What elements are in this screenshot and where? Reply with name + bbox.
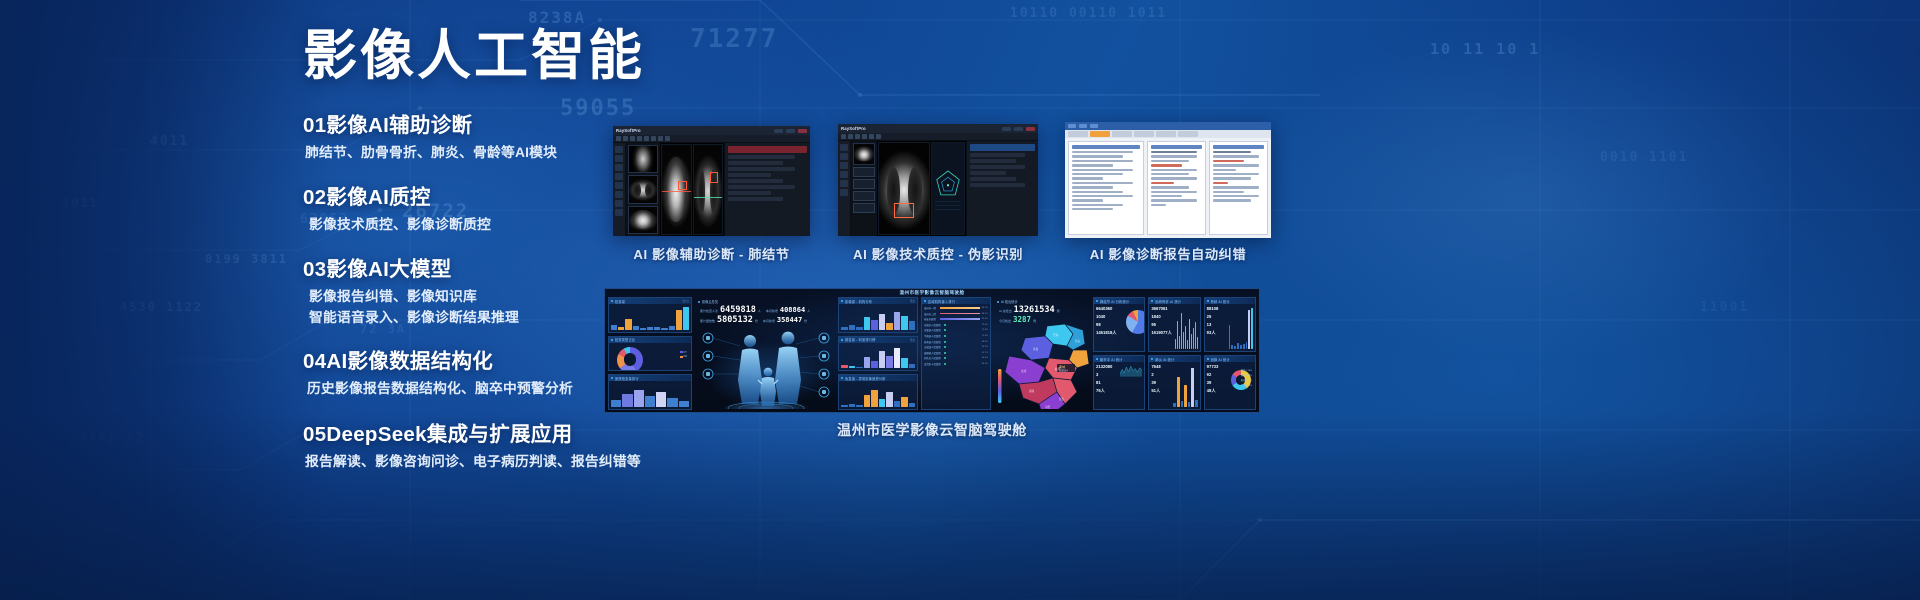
worklist-row[interactable] bbox=[1072, 151, 1133, 153]
metric-value: 95 bbox=[1151, 322, 1173, 327]
series-thumbnail[interactable] bbox=[628, 206, 658, 234]
card-header: 报告量 - 科室排行榜月度 bbox=[839, 337, 917, 343]
toolbar-icon[interactable] bbox=[637, 136, 642, 141]
metric-value: 13 bbox=[1207, 322, 1227, 327]
series-info-row[interactable] bbox=[853, 167, 875, 177]
finding-row[interactable] bbox=[728, 167, 795, 171]
donut-legend: CT DR bbox=[680, 351, 687, 359]
feature-number-02: 02 bbox=[303, 186, 326, 209]
card-ranking-list[interactable]: 区域机构接入排行 温州市一院 94.2% 温州市二院 88.1% bbox=[921, 297, 991, 410]
card-header: 肋骨骨折 AI 统计 bbox=[1149, 298, 1199, 304]
card-body: 3667061 1840 95 1619077人 bbox=[1151, 306, 1197, 349]
window-close-icon[interactable] bbox=[798, 129, 807, 133]
status-dot-icon bbox=[1151, 300, 1153, 302]
toolbar-icon[interactable] bbox=[862, 134, 867, 139]
report-tab[interactable] bbox=[1178, 131, 1198, 137]
ai-findings-panel[interactable] bbox=[724, 143, 810, 236]
rail-icon[interactable] bbox=[840, 171, 848, 178]
svg-text:泰顺: 泰顺 bbox=[1029, 389, 1035, 393]
status-dot-icon bbox=[841, 377, 843, 379]
bar-chart bbox=[841, 306, 915, 330]
app-titlebar: RaySoftPro bbox=[838, 124, 1038, 133]
rail-icon[interactable] bbox=[615, 164, 623, 171]
worklist-row[interactable] bbox=[1072, 199, 1103, 201]
ranking-row[interactable]: 文成县人民医院 65.2% bbox=[924, 345, 988, 349]
dashboard-column-bars: 影像量 - 机构分布月度 报告量 - 科室排行榜月度 bbox=[838, 297, 918, 410]
worklist-column[interactable] bbox=[1068, 141, 1144, 235]
rail-icon[interactable] bbox=[615, 191, 623, 198]
card-body bbox=[841, 345, 915, 369]
svg-text:平阳: 平阳 bbox=[1045, 405, 1051, 409]
worklist-row[interactable] bbox=[1072, 155, 1123, 157]
correction-line bbox=[1213, 151, 1251, 153]
correction-line bbox=[1213, 173, 1259, 175]
toolbar-icon[interactable] bbox=[651, 136, 656, 141]
screenshot-ai-diagnosis[interactable]: RaySoftPro bbox=[613, 126, 810, 236]
toolbar-icon[interactable] bbox=[841, 134, 846, 139]
card-metric-bar-2[interactable]: 肺炎 AI 统计 7648 2 39 51人 bbox=[1148, 355, 1200, 410]
correction-line bbox=[1213, 164, 1259, 166]
ai-kpi-value-1: 13261534 bbox=[1014, 305, 1055, 315]
app-toolbar[interactable] bbox=[838, 133, 1038, 141]
status-dot-icon bbox=[997, 301, 999, 303]
image-viewer[interactable] bbox=[877, 141, 966, 236]
toolbar-icon[interactable] bbox=[658, 136, 663, 141]
pentagon-overlay-icon bbox=[932, 143, 964, 234]
screenshot-imaging-cloud-dashboard[interactable]: 温州市医学影像云智脑驾驶舱 检查量近7日 bbox=[604, 288, 1260, 413]
toolbar-icon[interactable] bbox=[644, 136, 649, 141]
series-thumbnail-list[interactable] bbox=[851, 141, 877, 236]
ranking-rows: 温州市一院 94.2% 温州市二院 88.1% 瑞安市医院 80. bbox=[924, 306, 988, 366]
app-titlebar: RaySoftPro bbox=[613, 126, 810, 135]
report-line bbox=[1151, 155, 1197, 157]
rail-icon[interactable] bbox=[840, 162, 848, 169]
kpi-unit-2: 人 bbox=[807, 309, 810, 313]
report-tab[interactable] bbox=[1156, 131, 1176, 137]
caption-ai-quality-control: AI 影像技术质控 - 伪影识别 bbox=[838, 244, 1038, 263]
metric-value: 2132080 bbox=[1096, 364, 1118, 369]
ai-kpi-row-1: AI 总检出 13261534 例 bbox=[999, 305, 1060, 315]
ranking-row[interactable]: 平阳县人民医院 70.0% bbox=[924, 334, 988, 338]
metric-value: 7648 bbox=[1151, 364, 1171, 369]
worklist-row[interactable] bbox=[1072, 160, 1133, 162]
kpi-value-4: 358447 bbox=[777, 316, 802, 324]
app-toolbar[interactable] bbox=[613, 135, 810, 143]
bar-chart bbox=[841, 345, 915, 369]
status-dot-icon bbox=[611, 339, 613, 341]
card-region-map[interactable]: AI 检出统计 AI 总检出 13261534 例 今日检出 3287 例 bbox=[994, 297, 1090, 410]
card-body bbox=[611, 306, 689, 330]
finding-row[interactable] bbox=[728, 185, 795, 189]
finding-row[interactable] bbox=[728, 191, 771, 195]
toolbar-icon[interactable] bbox=[876, 134, 881, 139]
metric-value: 48人 bbox=[1207, 388, 1227, 394]
correction-line bbox=[1213, 191, 1244, 193]
panel-header bbox=[970, 144, 1035, 151]
report-line-error bbox=[1151, 164, 1182, 166]
left-tool-rail[interactable] bbox=[613, 143, 626, 236]
window-maximize-icon[interactable] bbox=[1014, 127, 1023, 131]
background-left-vignette bbox=[0, 0, 330, 600]
correction-line bbox=[1213, 195, 1259, 197]
panel-header bbox=[728, 146, 807, 153]
metric-value: 98 bbox=[1096, 322, 1118, 327]
correction-line bbox=[1213, 169, 1236, 171]
kpi-label-1: 累计检查人次 bbox=[700, 309, 718, 313]
qc-row[interactable] bbox=[970, 177, 1016, 181]
kpi-value-2: 408864 bbox=[780, 306, 805, 314]
report-line bbox=[1151, 169, 1197, 171]
pie-chart bbox=[1126, 310, 1145, 334]
ranking-row[interactable]: 温州市二院 88.1% bbox=[924, 312, 988, 316]
metric-value: 92 bbox=[1207, 372, 1227, 377]
titlebar-icon[interactable] bbox=[1068, 124, 1076, 128]
finding-row[interactable] bbox=[728, 155, 795, 159]
metric-values: 6640360 1040 98 1451818人 bbox=[1096, 306, 1118, 336]
worklist-row[interactable] bbox=[1072, 177, 1103, 179]
card-bar-small-1[interactable]: 检查量近7日 bbox=[608, 297, 692, 333]
rail-icon[interactable] bbox=[615, 182, 623, 189]
feature-number-05: 05 bbox=[303, 423, 326, 446]
worklist-row[interactable] bbox=[1072, 173, 1123, 175]
card-body: 7648 2 39 51人 bbox=[1151, 364, 1197, 407]
card-body bbox=[841, 306, 915, 330]
correction-line-flag bbox=[1213, 160, 1244, 162]
series-info-row[interactable] bbox=[853, 191, 875, 201]
viewport-axial-artifact[interactable] bbox=[878, 142, 930, 235]
worklist-row[interactable] bbox=[1072, 195, 1133, 197]
qc-row[interactable] bbox=[970, 153, 1025, 157]
kpi-label-2: 本月新增 bbox=[766, 309, 778, 313]
svg-text:乐清: 乐清 bbox=[1053, 333, 1059, 337]
dashboard-grid: 检查量近7日 检查类型占比 bbox=[608, 297, 1256, 410]
kpi-value-1: 6459818 bbox=[720, 305, 756, 315]
report-header bbox=[1151, 145, 1202, 149]
dashboard-column-right: 肺结节 AI 分析统计 6640360 1040 98 1451818人 bbox=[1093, 297, 1256, 410]
card-bar-stack-3[interactable]: 危急值 - 异常影像趋势分析 bbox=[838, 374, 918, 410]
rail-icon[interactable] bbox=[615, 200, 623, 207]
donut-chart bbox=[617, 347, 643, 372]
status-dot-icon bbox=[1096, 358, 1098, 360]
correction-line-flag bbox=[1213, 182, 1228, 184]
correction-line bbox=[1213, 186, 1259, 188]
ai-kpi-label-1: AI 总检出 bbox=[999, 309, 1012, 313]
card-header: 骨龄 AI 统计 bbox=[1205, 298, 1255, 304]
ranking-row[interactable]: 永嘉县人民医院 72.3% bbox=[924, 328, 988, 332]
feature-label-03: 影像AI大模型 bbox=[326, 258, 451, 281]
rail-icon[interactable] bbox=[840, 180, 848, 187]
ranking-row[interactable]: 龙湾区人民医院 54.9% bbox=[924, 362, 988, 366]
toolbar-icon[interactable] bbox=[665, 136, 670, 141]
bar-chart bbox=[1173, 364, 1197, 407]
status-dot-icon bbox=[841, 339, 843, 341]
toolbar-icon[interactable] bbox=[623, 136, 628, 141]
kpi-unit-4: 份 bbox=[804, 319, 807, 323]
report-line-error bbox=[1151, 182, 1174, 184]
dashboard-column-center: 影像云总览 累计检查人次 6459818 人 本月新增 408864 人 累计报… bbox=[695, 297, 835, 410]
rail-icon[interactable] bbox=[615, 146, 623, 153]
status-dot-icon bbox=[611, 377, 613, 379]
donut-legend: 钙化 1.74% 狭窄 2.63% 斑块 4.72% 正常 90.1% bbox=[1241, 368, 1252, 387]
metric-value: 1619077人 bbox=[1151, 330, 1173, 336]
bar-chart bbox=[1175, 306, 1197, 349]
status-dot-icon bbox=[611, 300, 613, 302]
card-header: 肺炎 AI 统计 bbox=[1149, 356, 1199, 362]
report-line bbox=[1151, 151, 1197, 153]
viewport-axial[interactable] bbox=[661, 144, 692, 235]
feature-label-02: 影像AI质控 bbox=[326, 186, 430, 209]
metric-value: 93人 bbox=[1207, 330, 1227, 336]
series-info-row[interactable] bbox=[853, 203, 875, 213]
card-header: 区域机构接入排行 bbox=[922, 298, 990, 304]
report-application-window bbox=[1065, 122, 1271, 238]
worklist-row[interactable] bbox=[1072, 182, 1133, 184]
card-header: 检查量近7日 bbox=[609, 298, 691, 304]
metric-value: 1840 bbox=[1151, 314, 1173, 319]
report-tab-strip[interactable] bbox=[1065, 130, 1271, 138]
status-dot-icon bbox=[841, 300, 843, 302]
card-donut-1[interactable]: 检查类型占比 CT DR bbox=[608, 336, 692, 372]
status-dot-icon bbox=[1207, 300, 1209, 302]
page-title: 影像人工智能 bbox=[303, 26, 703, 86]
series-thumbnail[interactable] bbox=[628, 145, 658, 173]
background-glow-right bbox=[1245, 24, 1805, 364]
card-metric-pie[interactable]: 肺结节 AI 分析统计 6640360 1040 98 1451818人 bbox=[1093, 297, 1145, 352]
pacs-application-window: RaySoftPro bbox=[613, 126, 810, 236]
metric-value: 3667061 bbox=[1151, 306, 1173, 311]
bar-chart bbox=[841, 383, 915, 407]
titlebar-icon[interactable] bbox=[1079, 124, 1087, 128]
metric-value: 51人 bbox=[1151, 388, 1171, 394]
ranking-row[interactable]: 泰顺县人民医院 61.7% bbox=[924, 351, 988, 355]
holographic-family-figure bbox=[696, 324, 834, 409]
card-metric-donut[interactable]: 冠脉 AI 统计 97733 92 39 48人 钙化 1.74% 狭窄 2.6… bbox=[1204, 355, 1256, 410]
feature-label-01: 影像AI辅助诊断 bbox=[326, 114, 472, 137]
card-kpi-human[interactable]: 影像云总览 累计检查人次 6459818 人 本月新增 408864 人 累计报… bbox=[695, 297, 835, 410]
toolbar-icon[interactable] bbox=[630, 136, 635, 141]
feature-desc-05: 报告解读、影像咨询问诊、电子病历判读、报告纠错等 bbox=[305, 452, 703, 472]
report-tab[interactable] bbox=[1134, 131, 1154, 137]
worklist-header bbox=[1072, 145, 1140, 149]
svg-text:洞头: 洞头 bbox=[1075, 339, 1081, 343]
report-line bbox=[1151, 173, 1189, 175]
qc-row[interactable] bbox=[970, 159, 1016, 163]
wenzhou-region-map[interactable]: 鹿城 208514 乐清洞头 永嘉瓯海 文成泰顺 瑞安平阳 bbox=[995, 322, 1089, 409]
ranking-row[interactable]: 洞头区人民医院 58.4% bbox=[924, 356, 988, 360]
series-thumbnail[interactable] bbox=[628, 175, 658, 203]
svg-text:瑞安: 瑞安 bbox=[1059, 397, 1065, 401]
report-line bbox=[1151, 204, 1166, 206]
bar-chart bbox=[1229, 306, 1253, 349]
metric-value: 1451818人 bbox=[1096, 330, 1118, 336]
qc-row[interactable] bbox=[970, 183, 1025, 187]
window-minimize-icon[interactable] bbox=[1002, 127, 1011, 131]
worklist-row[interactable] bbox=[1072, 169, 1133, 171]
card-body: CT DR bbox=[611, 345, 689, 369]
titlebar-icon[interactable] bbox=[1090, 124, 1098, 128]
finding-row[interactable] bbox=[728, 197, 783, 201]
dashboard-column-left: 检查量近7日 检查类型占比 bbox=[608, 297, 692, 410]
status-dot-icon bbox=[1096, 300, 1098, 302]
ai-kpi-unit-1: 例 bbox=[1057, 309, 1060, 313]
report-line bbox=[1151, 195, 1182, 197]
report-line bbox=[1151, 186, 1189, 188]
card-metric-area[interactable]: 脑卒中 AI 统计 2132080 3 81 76人 bbox=[1093, 355, 1145, 410]
toolbar-icon[interactable] bbox=[869, 134, 874, 139]
metric-values: 97733 92 39 48人 bbox=[1207, 364, 1227, 394]
right-row-1: 肺结节 AI 分析统计 6640360 1040 98 1451818人 bbox=[1093, 297, 1256, 352]
dashboard-column-ranking: 区域机构接入排行 温州市一院 94.2% 温州市二院 88.1% bbox=[921, 297, 991, 410]
status-dot-icon bbox=[698, 301, 700, 303]
svg-text:文成: 文成 bbox=[1021, 369, 1027, 373]
rail-icon[interactable] bbox=[615, 155, 623, 162]
metric-value: 39 bbox=[1151, 380, 1171, 385]
kpi-row-1: 累计检查人次 6459818 人 本月新增 408864 人 bbox=[700, 305, 810, 315]
window-close-icon[interactable] bbox=[1026, 127, 1035, 131]
caption-dashboard: 温州市医学影像云智脑驾驶舱 bbox=[604, 420, 1260, 440]
ai-kpi-header: AI 检出统计 bbox=[997, 299, 1018, 304]
metric-value: 2 bbox=[1151, 372, 1171, 377]
card-header: 危急值 - 异常影像趋势分析 bbox=[839, 375, 917, 381]
right-row-2: 脑卒中 AI 统计 2132080 3 81 76人 bbox=[1093, 355, 1256, 410]
status-dot-icon bbox=[924, 300, 926, 302]
qc-row[interactable] bbox=[970, 171, 1006, 175]
card-bar-stack-2[interactable]: 报告量 - 科室排行榜月度 bbox=[838, 336, 918, 372]
screenshot-ai-quality-control[interactable]: RaySoftPro bbox=[838, 124, 1038, 236]
feature-number-04: 04 bbox=[303, 350, 326, 373]
caption-ai-diagnosis: AI 影像辅助诊断 - 肺结节 bbox=[613, 244, 810, 263]
card-body: 2132080 3 81 76人 bbox=[1096, 364, 1142, 407]
card-metric-line[interactable]: 肋骨骨折 AI 统计 3667061 1840 95 1619077人 bbox=[1148, 297, 1200, 352]
card-body bbox=[611, 383, 689, 407]
status-dot-icon bbox=[1151, 358, 1153, 360]
card-bar-stack-1[interactable]: 影像量 - 机构分布月度 bbox=[838, 297, 918, 333]
rail-icon[interactable] bbox=[840, 153, 848, 160]
card-bar-small-2[interactable]: 医院检查量排行 bbox=[608, 374, 692, 410]
card-header: 影像量 - 机构分布月度 bbox=[839, 298, 917, 304]
rail-icon[interactable] bbox=[615, 173, 623, 180]
report-line bbox=[1151, 177, 1197, 179]
card-header: 检查类型占比 bbox=[609, 337, 691, 343]
feature-number-01: 01 bbox=[303, 114, 326, 137]
card-header: 冠脉 AI 统计 bbox=[1205, 356, 1255, 362]
series-info-row[interactable] bbox=[853, 179, 875, 189]
report-line bbox=[1151, 191, 1197, 193]
metric-value: 76人 bbox=[1096, 388, 1118, 394]
window-maximize-icon[interactable] bbox=[786, 129, 795, 133]
correction-suggestion-column[interactable] bbox=[1209, 141, 1268, 235]
metric-values: 2132080 3 81 76人 bbox=[1096, 364, 1118, 394]
rail-icon[interactable] bbox=[615, 209, 623, 216]
svg-text:208514: 208514 bbox=[1059, 369, 1068, 373]
metric-value: 97733 bbox=[1207, 364, 1227, 369]
status-dot-icon bbox=[1207, 358, 1209, 360]
dashboard-title: 温州市医学影像云智脑驾驶舱 bbox=[605, 290, 1259, 296]
qc-row[interactable] bbox=[970, 165, 1025, 169]
worklist-row[interactable] bbox=[1072, 164, 1113, 166]
series-thumbnail-list[interactable] bbox=[626, 143, 660, 236]
report-titlebar bbox=[1065, 122, 1271, 130]
metric-value: 81 bbox=[1096, 380, 1118, 385]
metric-value: 3 bbox=[1096, 372, 1118, 377]
worklist-row[interactable] bbox=[1072, 191, 1123, 193]
dashboard-column-map: AI 检出统计 AI 总检出 13261534 例 今日检出 3287 例 bbox=[994, 297, 1090, 410]
metric-value: 1040 bbox=[1096, 314, 1118, 319]
app-body bbox=[613, 143, 810, 236]
rail-icon[interactable] bbox=[840, 189, 848, 196]
bar-chart bbox=[611, 306, 689, 330]
report-line bbox=[1151, 199, 1197, 201]
ranking-row[interactable]: 乐清市人民医院 76.9% bbox=[924, 323, 988, 327]
toolbar-icon[interactable] bbox=[848, 134, 853, 139]
app-logo-text: RaySoftPro bbox=[616, 128, 641, 133]
qc-result-panel[interactable] bbox=[966, 141, 1038, 236]
report-tab-active[interactable] bbox=[1090, 131, 1110, 137]
card-body: 6640360 1040 98 1451818人 bbox=[1096, 306, 1142, 349]
app-body bbox=[838, 141, 1038, 236]
card-body: 温州市一院 94.2% 温州市二院 88.1% 瑞安市医院 80. bbox=[924, 306, 988, 407]
worklist-row[interactable] bbox=[1072, 186, 1113, 188]
ranking-row[interactable]: 苍南县人民医院 68.5% bbox=[924, 340, 988, 344]
caption-report-autocorrect: AI 影像诊断报告自动纠错 bbox=[1065, 244, 1271, 263]
window-minimize-icon[interactable] bbox=[774, 129, 783, 133]
screenshot-report-autocorrect[interactable] bbox=[1065, 122, 1271, 238]
card-body bbox=[841, 383, 915, 407]
viewport-geometry-analysis[interactable] bbox=[931, 142, 965, 235]
metric-values: 88108 25 13 93人 bbox=[1207, 306, 1227, 336]
metric-value: 39 bbox=[1207, 380, 1227, 385]
report-tab[interactable] bbox=[1068, 131, 1088, 137]
image-viewer[interactable] bbox=[660, 143, 724, 236]
bar-chart bbox=[611, 383, 689, 407]
finding-row[interactable] bbox=[728, 179, 783, 183]
correction-line bbox=[1213, 177, 1251, 179]
report-text-column[interactable] bbox=[1147, 141, 1206, 235]
map-heat-legend bbox=[995, 367, 1007, 407]
worklist-row[interactable] bbox=[1072, 204, 1123, 206]
metric-value: 6640360 bbox=[1096, 306, 1118, 311]
correction-line bbox=[1213, 199, 1251, 201]
report-tab[interactable] bbox=[1112, 131, 1132, 137]
finding-row[interactable] bbox=[728, 173, 771, 177]
toolbar-icon[interactable] bbox=[855, 134, 860, 139]
toolbar-icon[interactable] bbox=[616, 136, 621, 141]
card-body: 97733 92 39 48人 钙化 1.74% 狭窄 2.63% 斑块 4.7… bbox=[1207, 364, 1253, 407]
area-chart bbox=[1120, 364, 1142, 377]
metric-values: 7648 2 39 51人 bbox=[1151, 364, 1171, 394]
rail-icon[interactable] bbox=[840, 144, 848, 151]
series-thumbnail[interactable] bbox=[853, 143, 875, 165]
kpi-label-4: 本月新增 bbox=[763, 319, 775, 323]
metric-value: 88108 bbox=[1207, 306, 1227, 311]
ranking-row[interactable]: 温州市一院 94.2% bbox=[924, 306, 988, 310]
metric-value: 25 bbox=[1207, 314, 1227, 319]
correction-line bbox=[1213, 155, 1259, 157]
worklist-row[interactable] bbox=[1072, 208, 1113, 210]
card-body: 88108 25 13 93人 bbox=[1207, 306, 1253, 349]
card-header: 医院检查量排行 bbox=[609, 375, 691, 381]
metric-values: 3667061 1840 95 1619077人 bbox=[1151, 306, 1173, 336]
finding-row[interactable] bbox=[728, 161, 783, 165]
kpi-unit-3: 份 bbox=[755, 319, 758, 323]
kpi-unit-1: 人 bbox=[758, 309, 761, 313]
viewport-coronal[interactable] bbox=[693, 144, 724, 235]
card-metric-bar[interactable]: 骨龄 AI 统计 88108 25 13 93人 bbox=[1204, 297, 1256, 352]
ranking-row[interactable]: 瑞安市医院 80.4% bbox=[924, 317, 988, 321]
pacs-application-window: RaySoftPro bbox=[838, 124, 1038, 236]
feature-label-04: AI影像数据结构化 bbox=[326, 350, 493, 373]
left-tool-rail[interactable] bbox=[838, 141, 851, 236]
